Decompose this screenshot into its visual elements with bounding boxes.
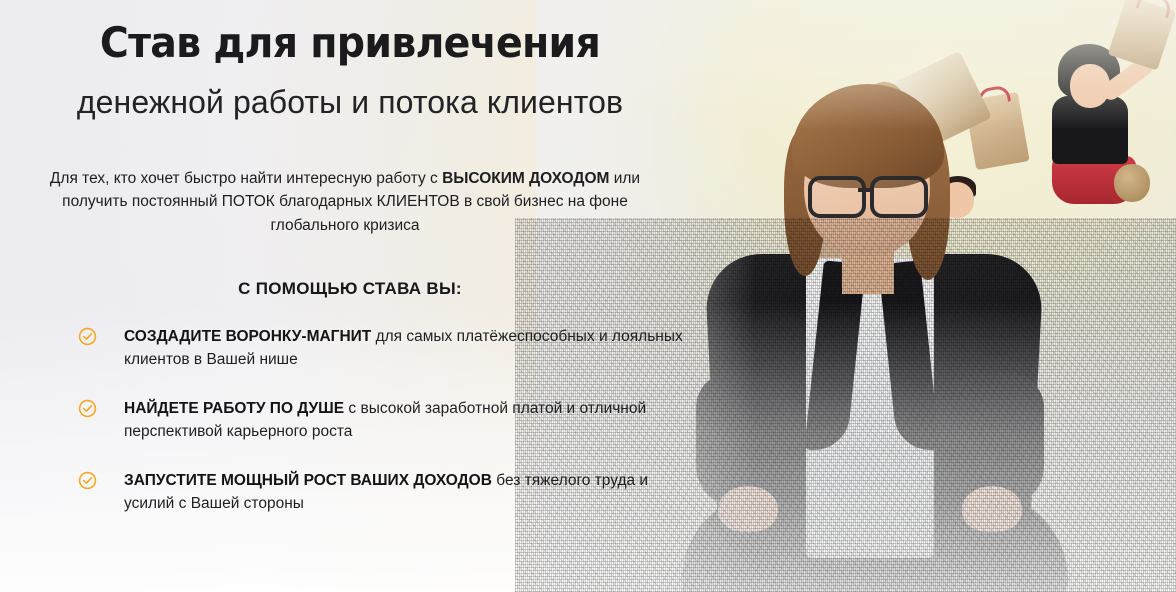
- check-circle-icon: [78, 399, 97, 418]
- lede-text-start: Для тех, кто хочет быстро найти интересн…: [50, 170, 442, 187]
- check-circle-icon: [78, 471, 97, 490]
- lede-paragraph: Для тех, кто хочет быстро найти интересн…: [30, 167, 660, 238]
- benefits-list: СОЗДАДИТЕ ВОРОНКУ-МАГНИТ для самых платё…: [78, 325, 698, 515]
- benefits-heading: С ПОМОЩЬЮ СТАВА ВЫ:: [0, 278, 700, 300]
- promo-banner: Став для привлечения денежной работы и п…: [0, 0, 1176, 592]
- benefit-strong: ЗАПУСТИТЕ МОЩНЫЙ РОСТ ВАШИХ ДОХОДОВ: [124, 472, 492, 489]
- benefit-strong: НАЙДЕТЕ РАБОТУ ПО ДУШЕ: [124, 400, 344, 417]
- lede-emphasis: ВЫСОКИМ ДОХОДОМ: [442, 170, 609, 187]
- benefit-strong: СОЗДАДИТЕ ВОРОНКУ-МАГНИТ: [124, 328, 371, 345]
- list-item: НАЙДЕТЕ РАБОТУ ПО ДУШЕ с высокой заработ…: [78, 397, 698, 443]
- banner-content: Став для привлечения денежной работы и п…: [0, 0, 1176, 592]
- check-circle-icon: [78, 327, 97, 346]
- page-subtitle: денежной работы и потока клиентов: [0, 82, 700, 122]
- list-item: ЗАПУСТИТЕ МОЩНЫЙ РОСТ ВАШИХ ДОХОДОВ без …: [78, 469, 698, 515]
- page-title: Став для привлечения: [21, 18, 679, 68]
- list-item: СОЗДАДИТЕ ВОРОНКУ-МАГНИТ для самых платё…: [78, 325, 698, 371]
